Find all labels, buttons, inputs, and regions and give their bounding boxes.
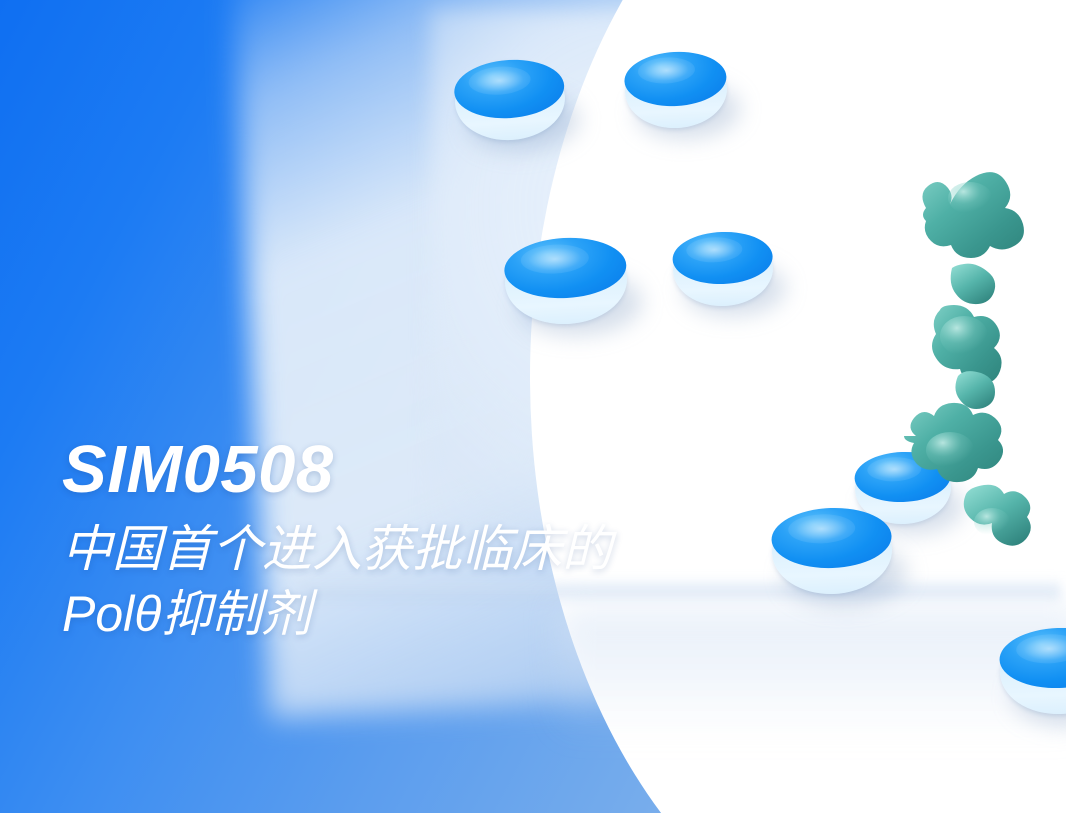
protein-neck-1 xyxy=(951,264,995,304)
page-title: SIM0508 xyxy=(62,436,882,503)
page-subtitle: 中国首个进入获批临床的 Polθ抑制剂 xyxy=(62,517,882,647)
pill-mid-right xyxy=(672,230,775,307)
pill-top-left xyxy=(452,56,567,143)
protein-highlight-3 xyxy=(926,432,974,468)
pill-top-right xyxy=(623,49,729,130)
protein-highlight-1 xyxy=(948,182,992,214)
pill-mid-left xyxy=(503,235,629,327)
teal-protein-structure xyxy=(880,150,1060,580)
protein-highlight-2 xyxy=(940,316,988,356)
page-subtitle-line-2: Polθ抑制剂 xyxy=(62,582,882,647)
headline-block: SIM0508 中国首个进入获批临床的 Polθ抑制剂 xyxy=(62,436,882,647)
page-subtitle-line-1: 中国首个进入获批临床的 xyxy=(62,517,882,582)
protein-highlight-4 xyxy=(974,508,1010,536)
poster-canvas: SIM0508 中国首个进入获批临床的 Polθ抑制剂 xyxy=(0,0,1066,813)
